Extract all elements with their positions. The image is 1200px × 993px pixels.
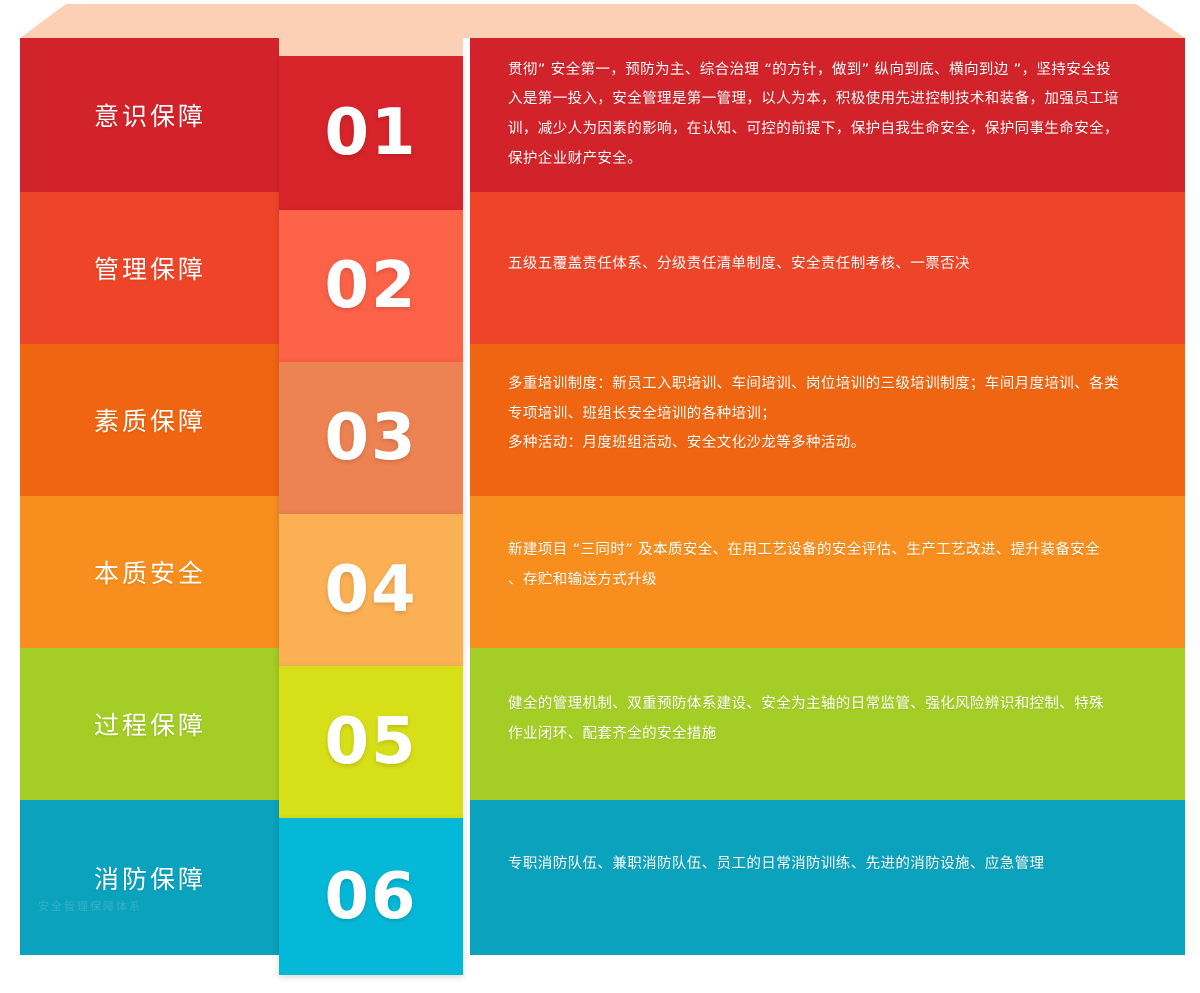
pyramid-row-04: 本质安全 新建项目 “三同时” 及本质安全、在用工艺设备的安全评估、生产工艺改进… [20, 496, 1185, 648]
pyramid-row-02: 管理保障 五级五覆盖责任体系、分级责任清单制度、安全责任制考核、一票否决 [20, 192, 1185, 344]
row-06-description-panel: 专职消防队伍、兼职消防队伍、员工的日常消防训练、先进的消防设施、应急管理 [470, 800, 1185, 955]
row-02-number: 02 [324, 254, 417, 318]
row-01-label: 意识保障 [94, 97, 206, 133]
row-04-label-panel: 本质安全 [20, 496, 280, 648]
row-04-number-block: 04 [279, 514, 463, 666]
row-05-number-block: 05 [279, 666, 463, 818]
row-02-number-block: 02 [279, 210, 463, 362]
infographic-canvas: 意识保障 贯彻” 安全第一，预防为主、综合治理 “的方针，做到” 纵向到底、横向… [0, 0, 1200, 993]
desc-line: 保护企业财产安全。 [508, 145, 1161, 175]
row-01-description: 贯彻” 安全第一，预防为主、综合治理 “的方针，做到” 纵向到底、横向到边 ”，… [508, 56, 1161, 175]
row-06-label-panel: 消防保障 [20, 800, 280, 955]
desc-line: 贯彻” 安全第一，预防为主、综合治理 “的方针，做到” 纵向到底、横向到边 ”，… [508, 56, 1161, 86]
row-03-number: 03 [324, 406, 417, 470]
row-04-description: 新建项目 “三同时” 及本质安全、在用工艺设备的安全评估、生产工艺改进、提升装备… [508, 536, 1161, 595]
row-03-label-panel: 素质保障 [20, 344, 280, 496]
row-02-label-panel: 管理保障 [20, 192, 280, 344]
desc-line: 作业闭环、配套齐全的安全措施 [508, 720, 1161, 750]
row-04-number: 04 [324, 558, 417, 622]
desc-line: 多种活动：月度班组活动、安全文化沙龙等多种活动。 [508, 429, 1161, 459]
desc-line: 新建项目 “三同时” 及本质安全、在用工艺设备的安全评估、生产工艺改进、提升装备… [508, 536, 1161, 566]
row-03-description-panel: 多重培训制度：新员工入职培训、车间培训、岗位培训的三级培训制度；车间月度培训、各… [470, 344, 1185, 496]
pyramid-row-03: 素质保障 多重培训制度：新员工入职培训、车间培训、岗位培训的三级培训制度；车间月… [20, 344, 1185, 496]
row-05-description: 健全的管理机制、双重预防体系建设、安全为主轴的日常监管、强化风险辨识和控制、特殊… [508, 690, 1161, 749]
row-01-number-block: 01 [279, 55, 463, 210]
row-05-description-panel: 健全的管理机制、双重预防体系建设、安全为主轴的日常监管、强化风险辨识和控制、特殊… [470, 648, 1185, 800]
row-04-description-panel: 新建项目 “三同时” 及本质安全、在用工艺设备的安全评估、生产工艺改进、提升装备… [470, 496, 1185, 648]
row-01-number: 01 [324, 101, 417, 165]
row-05-label: 过程保障 [94, 706, 206, 742]
row-06-number: 06 [324, 865, 417, 929]
desc-line: 多重培训制度：新员工入职培训、车间培训、岗位培训的三级培训制度；车间月度培训、各… [508, 370, 1161, 400]
desc-line: 专职消防队伍、兼职消防队伍、员工的日常消防训练、先进的消防设施、应急管理 [508, 850, 1161, 880]
row-03-description: 多重培训制度：新员工入职培训、车间培训、岗位培训的三级培训制度；车间月度培训、各… [508, 370, 1161, 459]
row-03-label: 素质保障 [94, 402, 206, 438]
row-01-label-panel: 意识保障 [20, 38, 280, 192]
row-06-number-block: 06 [279, 818, 463, 975]
pyramid-row-05: 过程保障 健全的管理机制、双重预防体系建设、安全为主轴的日常监管、强化风险辨识和… [20, 648, 1185, 800]
desc-line: 训，减少人为因素的影响，在认知、可控的前提下，保护自我生命安全，保护同事生命安全… [508, 115, 1161, 145]
pyramid-row-01: 意识保障 贯彻” 安全第一，预防为主、综合治理 “的方针，做到” 纵向到底、横向… [20, 38, 1185, 192]
row-03-number-block: 03 [279, 362, 463, 514]
desc-line: 入是第一投入，安全管理是第一管理，以人为本，积极使用先进控制技术和装备，加强员工… [508, 85, 1161, 115]
row-05-label-panel: 过程保障 [20, 648, 280, 800]
desc-line: 专项培训、班组长安全培训的各种培训； [508, 400, 1161, 430]
row-01-description-panel: 贯彻” 安全第一，预防为主、综合治理 “的方针，做到” 纵向到底、横向到边 ”，… [470, 38, 1185, 192]
desc-line: 健全的管理机制、双重预防体系建设、安全为主轴的日常监管、强化风险辨识和控制、特殊 [508, 690, 1161, 720]
row-06-description: 专职消防队伍、兼职消防队伍、员工的日常消防训练、先进的消防设施、应急管理 [508, 850, 1161, 880]
pyramid-row-06: 消防保障 专职消防队伍、兼职消防队伍、员工的日常消防训练、先进的消防设施、应急管… [20, 800, 1185, 955]
row-02-label: 管理保障 [94, 250, 206, 286]
desc-line: 、存贮和输送方式升级 [508, 566, 1161, 596]
row-05-number: 05 [324, 710, 417, 774]
desc-line: 五级五覆盖责任体系、分级责任清单制度、安全责任制考核、一票否决 [508, 250, 1161, 280]
row-06-label: 消防保障 [94, 860, 206, 896]
row-02-description: 五级五覆盖责任体系、分级责任清单制度、安全责任制考核、一票否决 [508, 250, 1161, 280]
row-04-label: 本质安全 [94, 554, 206, 590]
row-02-description-panel: 五级五覆盖责任体系、分级责任清单制度、安全责任制考核、一票否决 [470, 192, 1185, 344]
